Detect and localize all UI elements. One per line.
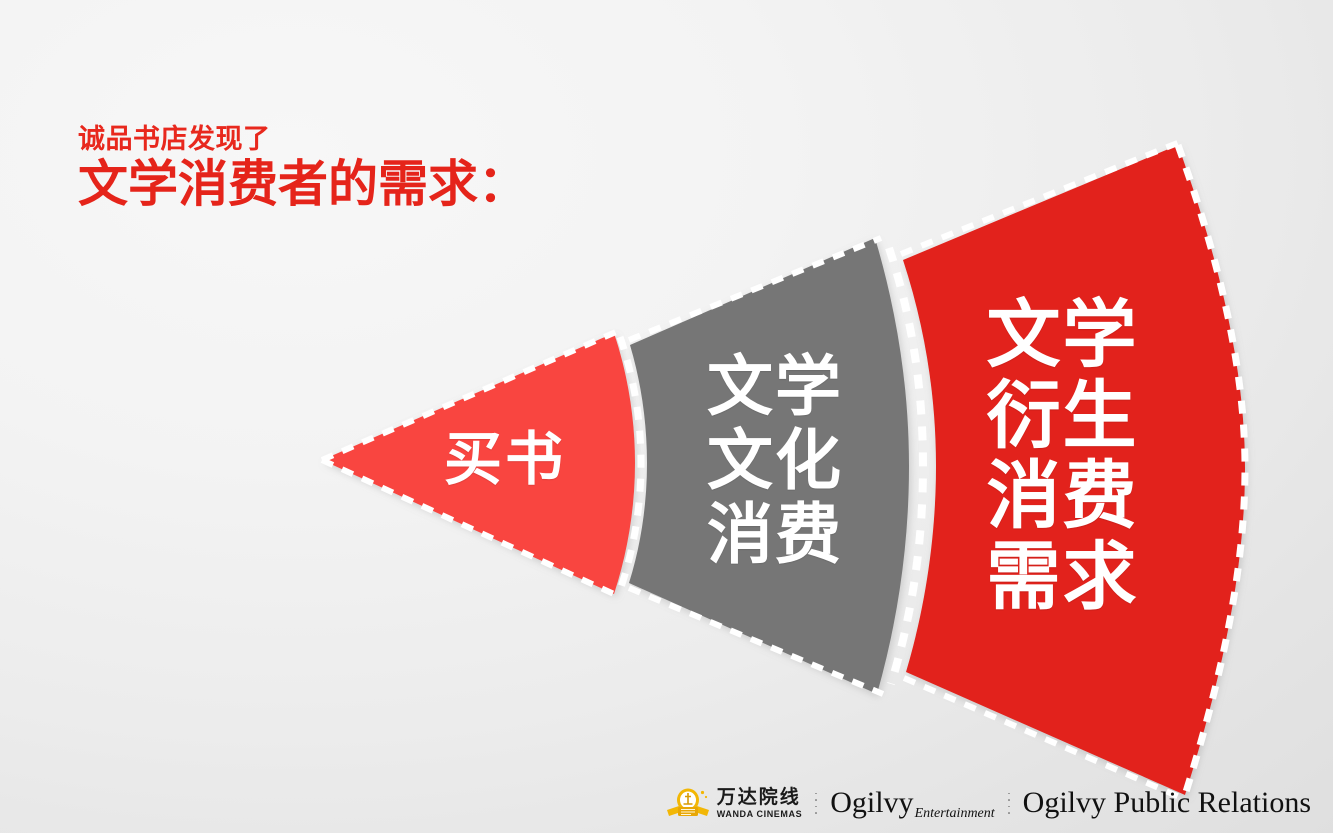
wanda-emblem-icon xyxy=(665,788,711,818)
ogilvy-pr-label: Ogilvy Public Relations xyxy=(1023,788,1311,818)
footer-logo-bar: 万达院线 WANDA CINEMAS Ogilvy Entertainment … xyxy=(0,779,1333,827)
wanda-name-cn: 万达院线 xyxy=(717,788,802,807)
funnel-stage-2-label: 文学 文化 消费 xyxy=(675,350,875,572)
wanda-cinemas-logo: 万达院线 WANDA CINEMAS xyxy=(665,788,802,819)
ogilvy-public-relations-logo: Ogilvy Public Relations xyxy=(1023,788,1311,818)
footer-divider-2 xyxy=(1008,790,1010,816)
footer-divider-1 xyxy=(815,790,817,816)
ogilvy-entertainment-logo: Ogilvy Entertainment xyxy=(830,788,994,818)
ogilvy-entertainment-main: Ogilvy xyxy=(830,788,913,818)
funnel-stage-3-label: 文学 衍生 消费 需求 xyxy=(955,295,1170,618)
funnel-stage-1-label: 买书 xyxy=(405,430,605,489)
wanda-wordmark: 万达院线 WANDA CINEMAS xyxy=(717,788,802,819)
ogilvy-entertainment-sub: Entertainment xyxy=(915,807,995,821)
slide-canvas: 诚品书店发现了 文学消费者的需求： 买书 文学 文化 消费 文学 衍生 消费 需… xyxy=(0,0,1333,833)
wanda-name-en: WANDA CINEMAS xyxy=(717,810,802,819)
